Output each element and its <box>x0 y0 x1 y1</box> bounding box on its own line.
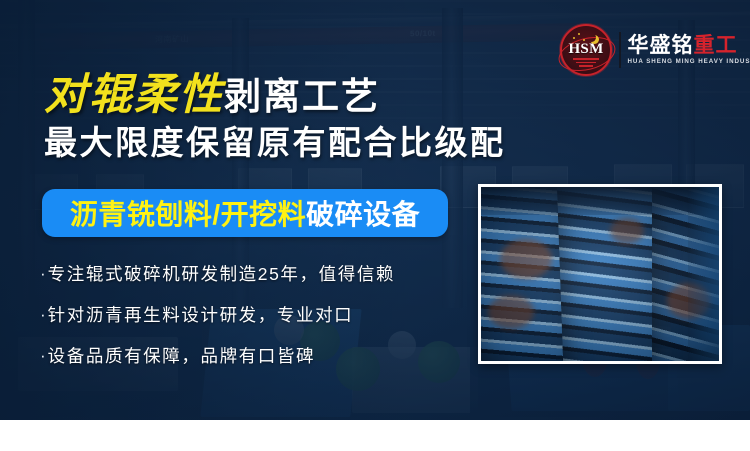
headline-line-2: 最大限度保留原有配合比级配 <box>44 125 506 161</box>
selling-point-list: · 专注辊式破碎机研发制造25年，值得信赖 · 针对沥青再生料设计研发，专业对口… <box>40 258 460 381</box>
headline-rest: 剥离工艺 <box>224 76 380 117</box>
emblem-lines-icon <box>573 58 599 66</box>
bullet-dot-icon: · <box>40 265 46 282</box>
page-root: 河南矿山 50/10t <box>0 0 750 451</box>
hsm-emblem-icon: HSM <box>560 24 612 76</box>
product-photo[interactable] <box>478 184 722 364</box>
list-item: · 针对沥青再生料设计研发，专业对口 <box>40 299 460 330</box>
bullet-dot-icon: · <box>40 306 46 323</box>
list-item: · 专注辊式破碎机研发制造25年，值得信赖 <box>40 258 460 289</box>
pill-label-white: 破碎设备 <box>306 193 420 233</box>
headline-line-1: 对辊柔性剥离工艺 <box>44 74 380 117</box>
company-logo[interactable]: HSM 华盛铭重工 HUA SHENG MING HEAVY INDUSTRY <box>560 22 742 78</box>
headline-highlight: 对辊柔性 <box>44 70 224 120</box>
logo-divider <box>619 32 621 68</box>
bullet-dot-icon: · <box>40 347 46 364</box>
list-item-text: 针对沥青再生料设计研发，专业对口 <box>48 302 354 327</box>
list-item-text: 专注辊式破碎机研发制造25年，值得信赖 <box>48 261 395 286</box>
logo-text-block: 华盛铭重工 HUA SHENG MING HEAVY INDUSTRY <box>628 35 750 65</box>
list-item-text: 设备品质有保障，品牌有口皆碑 <box>48 343 315 368</box>
logo-name-red: 重工 <box>694 33 738 57</box>
list-item: · 设备品质有保障，品牌有口皆碑 <box>40 340 460 371</box>
emblem-initials: HSM <box>562 41 610 58</box>
logo-company-name-cn: 华盛铭重工 <box>628 35 750 56</box>
photo-vignette <box>481 187 719 361</box>
emblem-star-icon <box>573 37 575 39</box>
logo-company-name-en: HUA SHENG MING HEAVY INDUSTRY <box>628 59 750 65</box>
promo-banner: 河南矿山 50/10t <box>0 0 750 420</box>
emblem-star-icon <box>578 33 580 35</box>
pill-label-yellow: 沥青铣刨料/开挖料 <box>70 193 306 233</box>
logo-name-white: 华盛铭 <box>628 33 694 57</box>
product-category-pill[interactable]: 沥青铣刨料/开挖料破碎设备 <box>42 189 448 237</box>
